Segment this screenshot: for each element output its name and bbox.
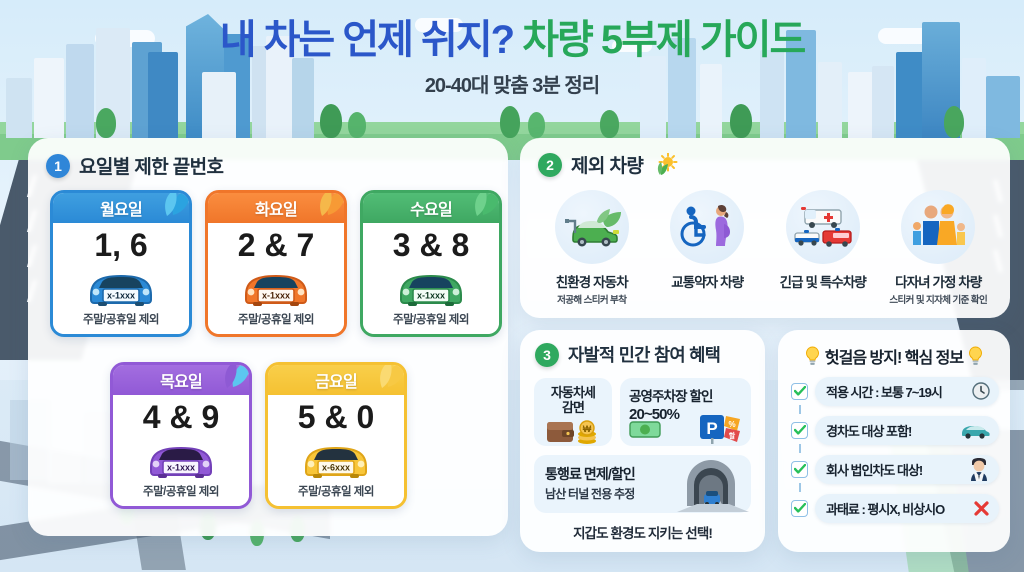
tree-icon — [600, 110, 619, 138]
exempt-item-family[interactable]: 다자녀 가정 차량 스티커 및 지자체 기준 확인 — [881, 190, 997, 306]
weekday-body-friday: 5 & 0 x-6xxx 주말/공휴일 제외 — [268, 395, 404, 506]
tree-icon — [730, 104, 752, 138]
tip-item-kei-car-included[interactable]: 경차도 대상 포함! — [791, 415, 999, 445]
exempt-item-mobility[interactable]: 교통약자 차량 — [650, 190, 766, 306]
sun-leaf-icon — [652, 153, 678, 177]
car-icon: x-1xxx — [230, 265, 322, 307]
section1-title: 요일별 제한 끝번호 — [79, 152, 223, 179]
tree-icon — [348, 112, 366, 138]
weekday-body-tuesday: 2 & 7 x-1xxx 주말/공휴일 제외 — [208, 223, 344, 334]
tree-icon — [320, 104, 342, 138]
tree-icon — [96, 108, 116, 138]
section2-header: 2 제외 차량 — [538, 151, 678, 178]
connector-line — [799, 483, 801, 492]
connector-line — [799, 444, 801, 453]
weekday-card-row-bottom: 목요일 4 & 9 x-1xxx 주말/공휴일 제외 — [110, 362, 407, 509]
section2-title: 제외 차량 — [571, 151, 643, 178]
benefit-card-vehicle-tax[interactable]: 자동차세 감면 ₩ — [534, 378, 612, 446]
car-illustration-monday: x-1xxx — [53, 264, 189, 308]
car-illustration-thursday: x-1xxx — [113, 436, 249, 480]
exempt-sub-family: 스티커 및 지자체 기준 확인 — [881, 292, 997, 306]
weekday-numbers-monday: 1, 6 — [53, 227, 189, 264]
page-title: 내 차는 언제 쉬지? 차량 5부제 가이드 — [0, 18, 1024, 63]
weekday-card-wednesday[interactable]: 수요일 3 & 8 x-1xxx 주말/공휴일 제외 — [360, 190, 502, 337]
weekday-body-monday: 1, 6 x-1xxx 주말/공휴일 제외 — [53, 223, 189, 334]
exempt-icon-wrapper — [670, 190, 744, 264]
exempt-items-row: 친환경 자동차 저공해 스티커 부착 — [534, 190, 996, 306]
weekday-body-thursday: 4 & 9 x-1xxx 주말/공휴일 제외 — [113, 395, 249, 506]
weekday-note-friday: 주말/공휴일 제외 — [268, 483, 404, 499]
checkbox-checked-icon — [791, 461, 808, 478]
lightbulb-icon — [968, 346, 983, 366]
benefit-card-toll[interactable]: 통행료 면제/할인 남산 터널 전용 추정 — [534, 455, 751, 513]
plate-text-thursday: x-1xxx — [167, 462, 195, 472]
weekday-numbers-thursday: 4 & 9 — [113, 399, 249, 436]
section-voluntary-benefits: 3 자발적 민간 참여 혜택 자동차세 감면 ₩ — [520, 330, 765, 552]
plate-text-friday: x-6xxx — [322, 462, 350, 472]
tip-pill[interactable]: 경차도 대상 포함! — [815, 416, 999, 445]
section3-header: 3 자발적 민간 참여 혜택 — [535, 342, 720, 367]
page-title-part2: 차량 5부제 가이드 — [522, 18, 804, 62]
tree-icon — [944, 106, 964, 138]
checkbox-checked-icon — [791, 500, 808, 517]
tip-text-operating-hours: 적용 시간 : 보통 7~19시 — [826, 382, 942, 401]
weekday-card-friday[interactable]: 금요일 5 & 0 x-6xxx 주말/공휴일 제외 — [265, 362, 407, 509]
exempt-icon-wrapper — [901, 190, 975, 264]
weekday-name-thursday: 목요일 — [113, 365, 249, 395]
checkbox-checked-icon — [791, 383, 808, 400]
businessman-icon — [968, 457, 990, 481]
tip-pill[interactable]: 회사 법인차도 대상! — [815, 455, 999, 484]
section4-header: 헛걸음 방지! 핵심 정보 — [778, 344, 1010, 368]
exempt-label-mobility: 교통약자 차량 — [650, 271, 766, 291]
section3-number-badge: 3 — [535, 343, 559, 367]
benefit-boxes-row: 자동차세 감면 ₩ 공영주차장 할인 20~50% — [534, 378, 751, 446]
exempt-label-eco-car: 친환경 자동차 — [534, 271, 650, 291]
connector-line — [799, 405, 801, 414]
exempt-item-emergency[interactable]: 긴급 및 특수차량 — [765, 190, 881, 306]
exempt-label-emergency: 긴급 및 특수차량 — [765, 271, 881, 291]
weekday-card-thursday[interactable]: 목요일 4 & 9 x-1xxx 주말/공휴일 제외 — [110, 362, 252, 509]
tip-pill[interactable]: 과태료 : 평시X, 비상시O — [815, 494, 999, 523]
tip-text-kei-car-included: 경차도 대상 포함! — [826, 421, 911, 440]
car-illustration-wednesday: x-1xxx — [363, 264, 499, 308]
clock-icon — [972, 382, 990, 400]
small-car-icon — [960, 422, 990, 439]
tip-text-penalty: 과태료 : 평시X, 비상시O — [826, 499, 944, 518]
weekday-name-friday: 금요일 — [268, 365, 404, 395]
page-subtitle: 20-40대 맞춤 3분 정리 — [0, 69, 1024, 98]
weekday-note-tuesday: 주말/공휴일 제외 — [208, 311, 344, 327]
wheelchair-pregnant-icon — [677, 204, 737, 250]
weekday-note-thursday: 주말/공휴일 제외 — [113, 483, 249, 499]
section-weekday-restrictions: 1 요일별 제한 끝번호 월요일 1, 6 x-1xxx — [28, 138, 508, 536]
benefit-tax-line1: 자동차세 — [538, 385, 608, 400]
exempt-icon-wrapper — [555, 190, 629, 264]
electric-car-icon — [561, 205, 623, 249]
weekday-card-tuesday[interactable]: 화요일 2 & 7 x-1xxx 주말/공휴일 제외 — [205, 190, 347, 337]
weekday-numbers-tuesday: 2 & 7 — [208, 227, 344, 264]
svg-text:₩: ₩ — [583, 424, 592, 434]
page-header: 내 차는 언제 쉬지? 차량 5부제 가이드 20-40대 맞춤 3분 정리 — [0, 18, 1024, 98]
weekday-card-monday[interactable]: 월요일 1, 6 x-1xxx 주말/공휴일 제외 — [50, 190, 192, 337]
infographic-canvas: 내 차는 언제 쉬지? 차량 5부제 가이드 20-40대 맞춤 3분 정리 1… — [0, 0, 1024, 572]
tip-item-penalty[interactable]: 과태료 : 평시X, 비상시O — [791, 493, 999, 523]
svg-text:%: % — [728, 420, 735, 429]
weekday-card-row-top: 월요일 1, 6 x-1xxx 주말/공휴일 제외 — [50, 190, 502, 337]
checkbox-checked-icon — [791, 422, 808, 439]
weekday-numbers-wednesday: 3 & 8 — [363, 227, 499, 264]
section1-number-badge: 1 — [46, 154, 70, 178]
weekday-name-tuesday: 화요일 — [208, 193, 344, 223]
parking-discount-icon: P % 할 — [626, 414, 750, 444]
exempt-sub-eco-car: 저공해 스티커 부착 — [534, 292, 650, 306]
tip-item-corporate-cars[interactable]: 회사 법인차도 대상! — [791, 454, 999, 484]
exempt-label-family: 다자녀 가정 차량 — [881, 271, 997, 291]
plate-text-monday: x-1xxx — [107, 290, 135, 300]
section2-number-badge: 2 — [538, 153, 562, 177]
section3-title: 자발적 민간 참여 혜택 — [568, 342, 720, 367]
weekday-name-wednesday: 수요일 — [363, 193, 499, 223]
exempt-icon-wrapper — [786, 190, 860, 264]
car-illustration-friday: x-6xxx — [268, 436, 404, 480]
tree-icon — [528, 112, 545, 138]
benefit-tax-line2: 감면 — [538, 400, 608, 415]
section-exempt-vehicles: 2 제외 차량 — [520, 138, 1010, 318]
exempt-item-eco-car[interactable]: 친환경 자동차 저공해 스티커 부착 — [534, 190, 650, 306]
tip-item-operating-hours[interactable]: 적용 시간 : 보통 7~19시 — [791, 376, 999, 406]
car-icon: x-1xxx — [385, 265, 477, 307]
section4-title: 헛걸음 방지! 핵심 정보 — [825, 344, 963, 368]
weekday-note-wednesday: 주말/공휴일 제외 — [363, 311, 499, 327]
red-x-icon — [973, 500, 990, 517]
weekday-numbers-friday: 5 & 0 — [268, 399, 404, 436]
benefit-parking-line1: 공영주차장 할인 — [629, 385, 751, 405]
lightbulb-icon — [805, 346, 820, 366]
benefit-card-public-parking[interactable]: 공영주차장 할인 20~50% P % 할 — [620, 378, 751, 446]
weekday-note-monday: 주말/공휴일 제외 — [53, 311, 189, 327]
wallet-coins-icon: ₩ — [545, 418, 601, 444]
svg-text:P: P — [706, 419, 717, 438]
page-title-part1: 내 차는 언제 쉬지? — [220, 18, 523, 62]
plate-text-wednesday: x-1xxx — [417, 290, 445, 300]
tunnel-car-icon — [677, 456, 751, 512]
weekday-body-wednesday: 3 & 8 x-1xxx 주말/공휴일 제외 — [363, 223, 499, 334]
ambulance-police-fire-icon — [791, 202, 855, 252]
car-icon: x-1xxx — [75, 265, 167, 307]
car-icon: x-1xxx — [135, 437, 227, 479]
family-icon — [907, 203, 969, 251]
tree-icon — [500, 106, 520, 138]
benefit-footer-note: 지갑도 환경도 지키는 선택! — [520, 522, 765, 542]
plate-text-tuesday: x-1xxx — [262, 290, 290, 300]
section1-header: 1 요일별 제한 끝번호 — [46, 152, 223, 179]
tip-text-corporate-cars: 회사 법인차도 대상! — [826, 460, 922, 479]
section-key-info-tips: 헛걸음 방지! 핵심 정보 적용 시간 : 보통 7~19시 — [778, 330, 1010, 552]
tip-pill[interactable]: 적용 시간 : 보통 7~19시 — [815, 377, 999, 406]
car-illustration-tuesday: x-1xxx — [208, 264, 344, 308]
svg-text:할: 할 — [729, 431, 736, 440]
weekday-name-monday: 월요일 — [53, 193, 189, 223]
tips-list: 적용 시간 : 보통 7~19시 경차도 대상 포함! — [791, 376, 999, 523]
car-icon: x-6xxx — [290, 437, 382, 479]
